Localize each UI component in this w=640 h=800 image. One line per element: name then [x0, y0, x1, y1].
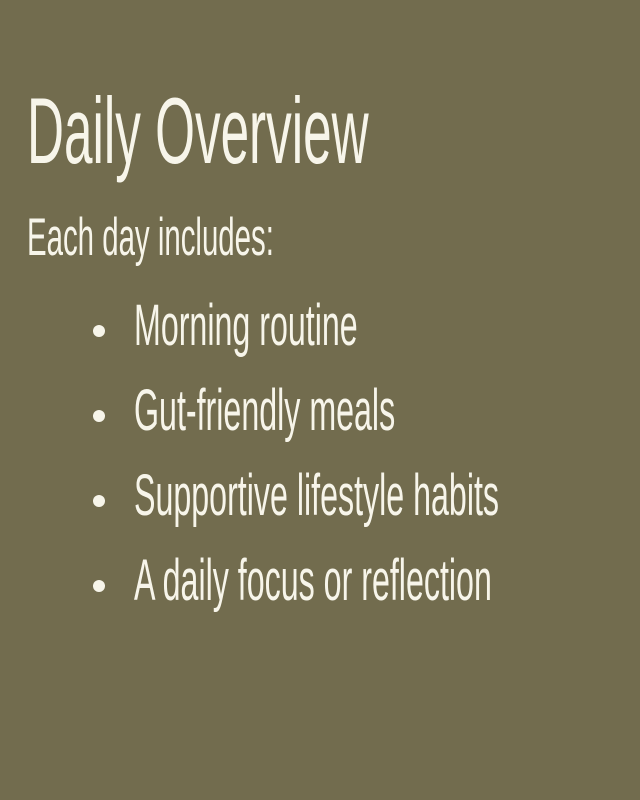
list-item: Gut-friendly meals: [0, 382, 640, 467]
list-item-label-wrap: Gut-friendly meals: [134, 382, 605, 440]
list-item-label-wrap: Morning routine: [134, 297, 537, 355]
list-item-label: A daily focus or reflection: [134, 552, 492, 610]
intro-line-text: Each day includes:: [27, 212, 274, 264]
intro-line: Each day includes:: [27, 212, 472, 264]
bullet-dot-icon: [93, 410, 105, 422]
list-item-label-wrap: A daily focus or reflection: [134, 552, 640, 610]
list-item: Supportive lifestyle habits: [0, 467, 640, 552]
list-item: Morning routine: [0, 297, 640, 382]
page-title: Daily Overview: [27, 86, 640, 176]
list-item-label: Supportive lifestyle habits: [134, 467, 499, 525]
bullet-dot-icon: [93, 325, 105, 337]
list-item: A daily focus or reflection: [0, 552, 640, 637]
bullet-dot-icon: [93, 580, 105, 592]
feature-bullet-list: Morning routine Gut-friendly meals Suppo…: [0, 297, 640, 637]
bullet-dot-icon: [93, 495, 105, 507]
list-item-label: Gut-friendly meals: [134, 382, 395, 440]
slide-canvas: Daily Overview Each day includes: Mornin…: [0, 0, 640, 800]
page-title-text: Daily Overview: [27, 86, 369, 176]
list-item-label: Morning routine: [134, 297, 358, 355]
list-item-label-wrap: Supportive lifestyle habits: [134, 467, 640, 525]
